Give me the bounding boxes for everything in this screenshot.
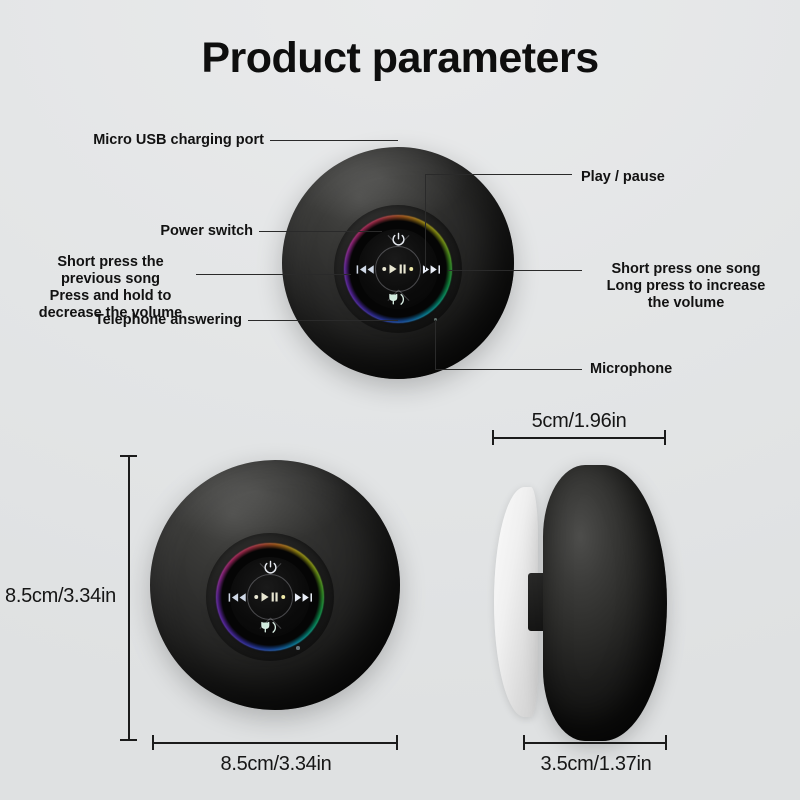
- dimension-label-side-height: 5cm/1.96in: [492, 410, 666, 433]
- dimension-label-side-depth: 3.5cm/1.37in: [523, 753, 669, 776]
- control-ring-secondary[interactable]: [216, 543, 324, 651]
- play-pause-icon[interactable]: [381, 259, 415, 279]
- leader-line-play-pause-horizontal: [425, 174, 572, 175]
- dimension-label-front-height: 8.5cm/3.34in: [5, 585, 116, 608]
- callout-telephone-answering: Telephone answering: [46, 312, 242, 329]
- leader-line-microphone-vertical: [435, 320, 436, 369]
- dimension-line-side-depth: [523, 742, 667, 744]
- callout-power-switch: Power switch: [46, 223, 253, 240]
- dimension-line-front-height: [128, 455, 130, 741]
- dimension-cap-top: [120, 455, 137, 457]
- leader-line-previous-song: [196, 274, 351, 275]
- dimension-label-front-width: 8.5cm/3.34in: [152, 753, 400, 776]
- microphone-hole: [296, 646, 300, 650]
- leader-line-microphone-horizontal: [435, 369, 582, 370]
- speaker-side-view: [543, 465, 667, 741]
- leader-line-next-song: [448, 270, 582, 271]
- page-title: Product parameters: [0, 34, 800, 83]
- callout-micro-usb: Micro USB charging port: [46, 132, 264, 149]
- dimension-line-front-width: [152, 742, 398, 744]
- power-icon[interactable]: [260, 557, 280, 577]
- callout-next-song: Short press one song Long press to incre…: [586, 261, 786, 312]
- product-parameters-infographic: Product parameters: [0, 0, 800, 800]
- callout-microphone: Microphone: [590, 361, 760, 378]
- previous-track-icon[interactable]: [354, 259, 376, 279]
- next-track-icon[interactable]: [420, 259, 442, 279]
- power-icon[interactable]: [388, 229, 408, 249]
- dimension-cap-right: [665, 735, 667, 750]
- leader-line-telephone: [248, 320, 398, 321]
- phone-call-icon[interactable]: [258, 617, 282, 637]
- leader-line-power-switch: [259, 231, 382, 232]
- dimension-cap-left: [152, 735, 154, 750]
- previous-track-icon[interactable]: [226, 587, 248, 607]
- callout-play-pause: Play / pause: [581, 169, 771, 186]
- play-pause-icon[interactable]: [253, 587, 287, 607]
- next-track-icon[interactable]: [292, 587, 314, 607]
- dimension-line-side-height: [492, 437, 666, 439]
- leader-line-play-pause-vertical: [425, 174, 426, 270]
- dimension-cap-left: [523, 735, 525, 750]
- dimension-cap-bottom: [120, 739, 137, 741]
- leader-line-micro-usb: [270, 140, 398, 141]
- phone-call-icon[interactable]: [386, 289, 410, 309]
- dimension-cap-right: [396, 735, 398, 750]
